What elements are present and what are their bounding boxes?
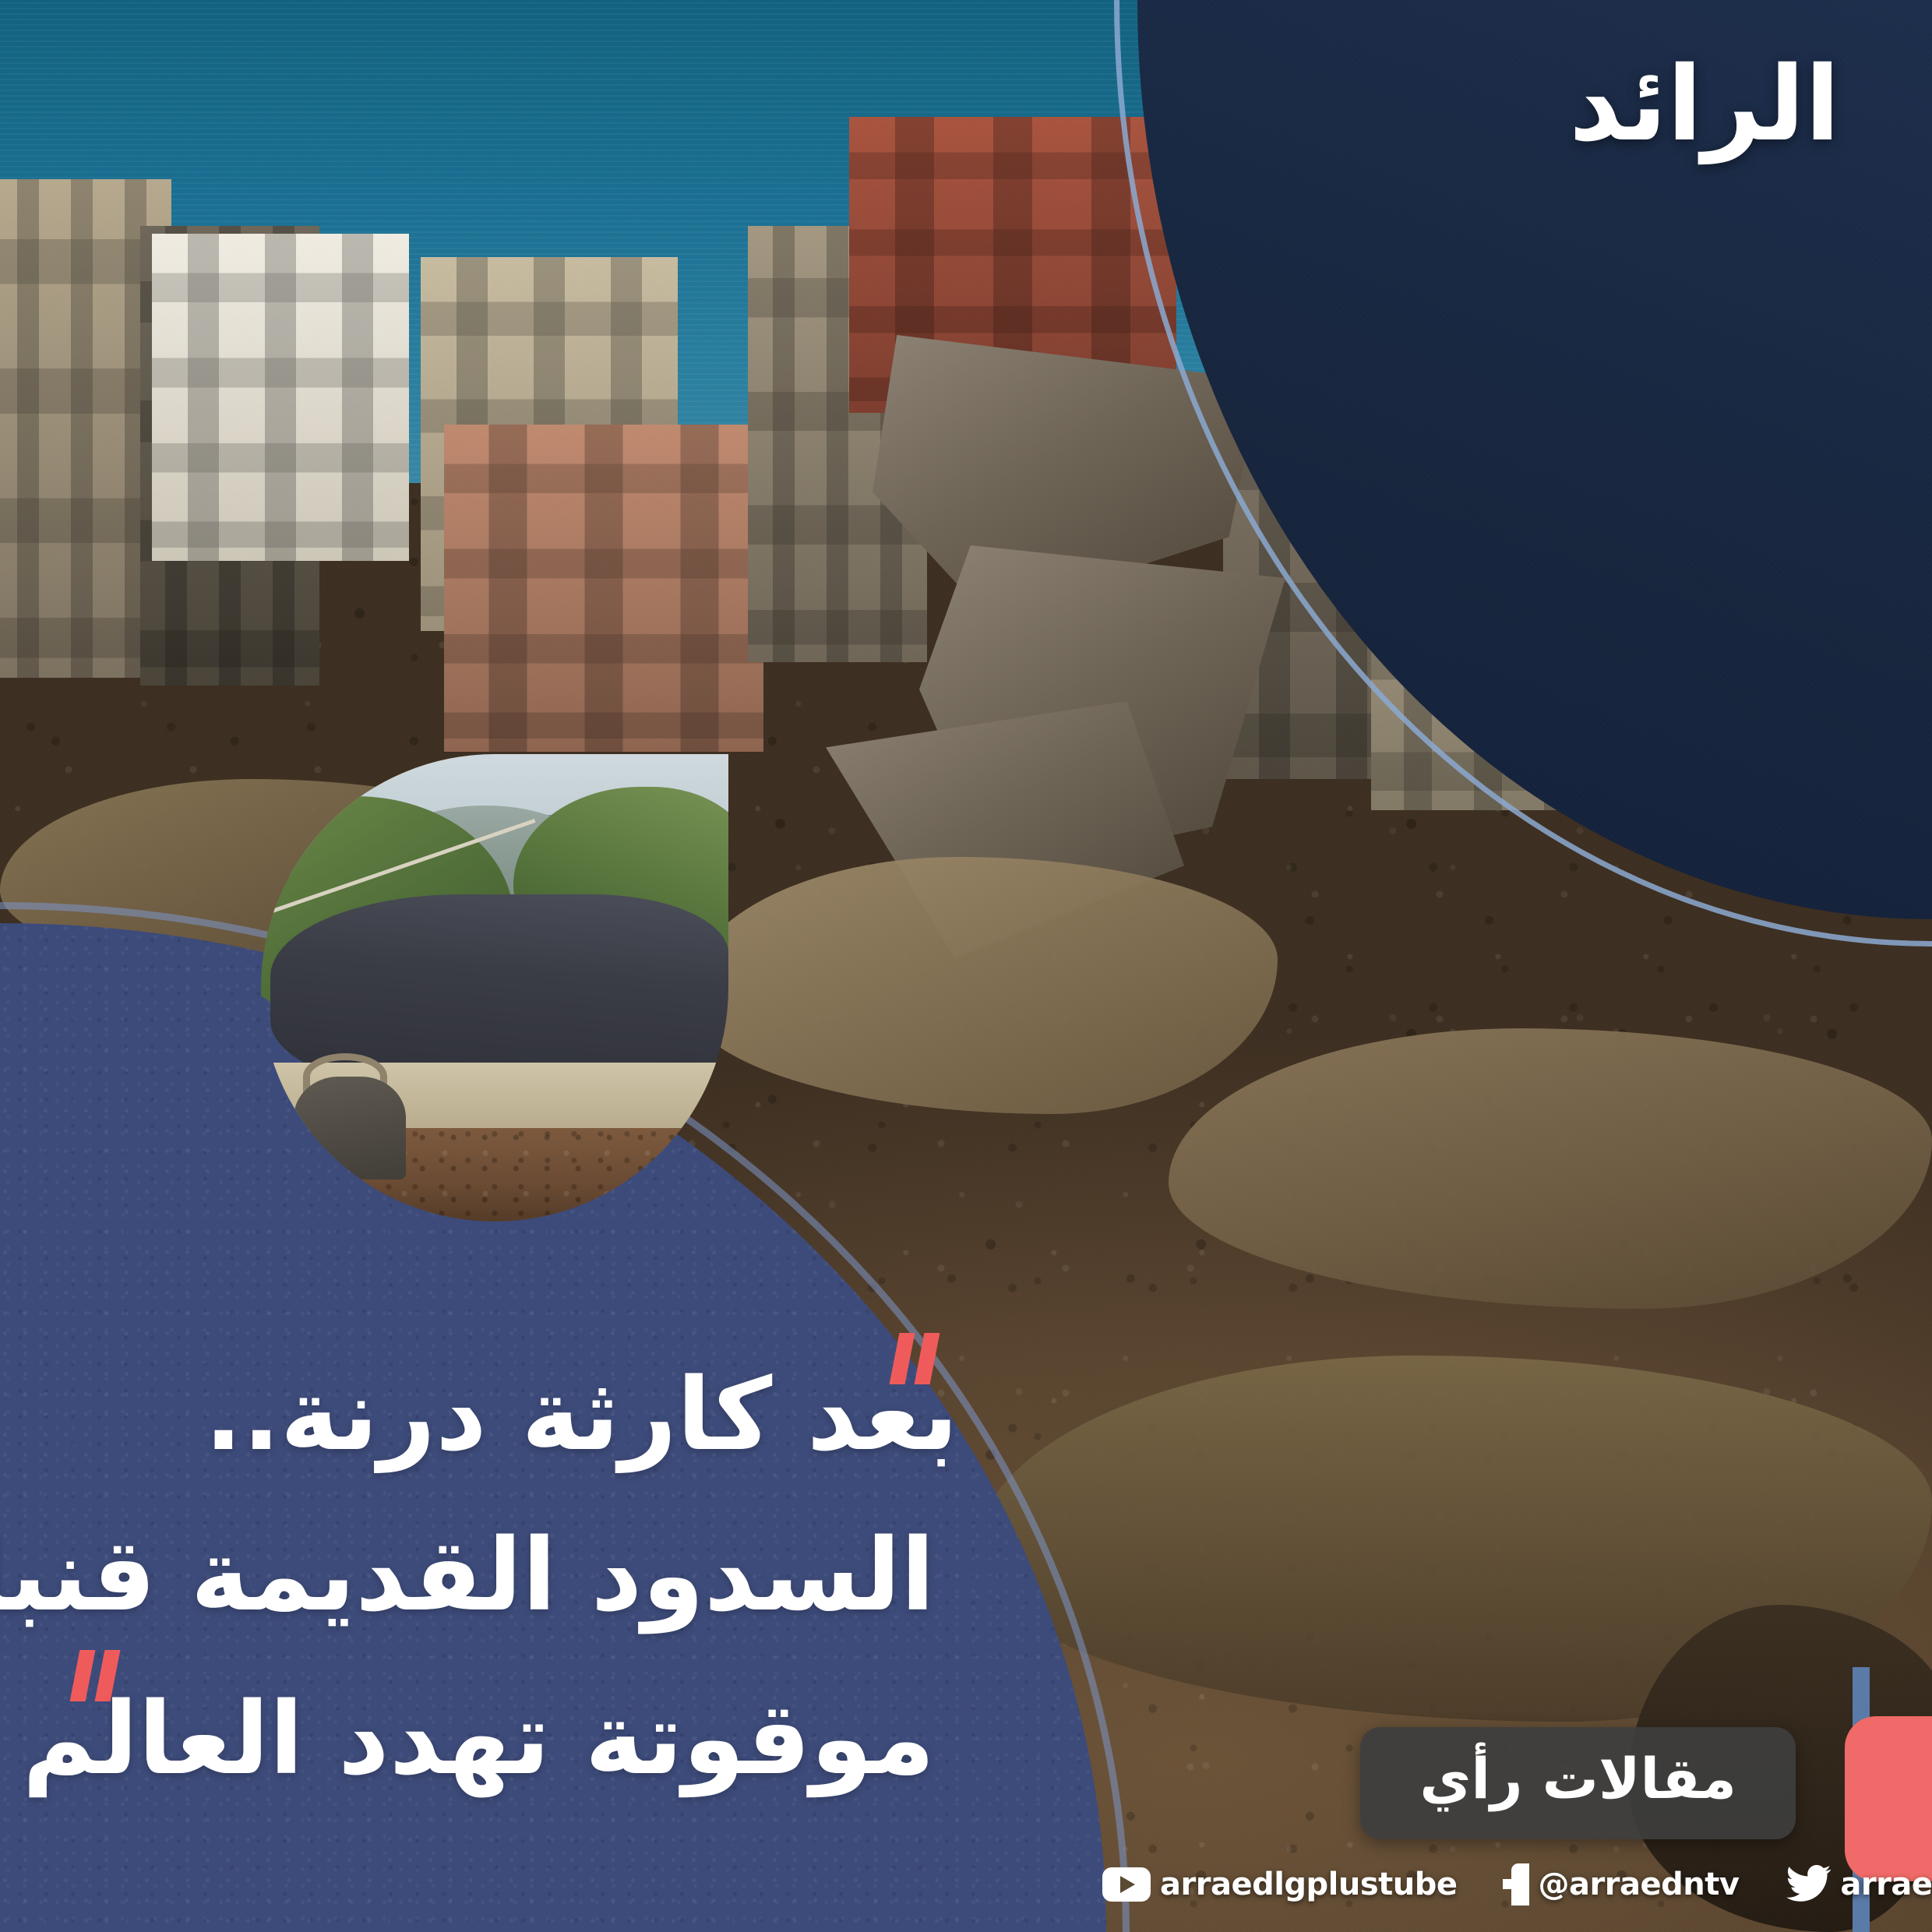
twitter-handle: arraedlgplus (1840, 1867, 1932, 1902)
category-badge[interactable]: مقالات رأي (1360, 1727, 1796, 1839)
headline-line-2: السدود القديمة قنبلة (0, 1518, 935, 1634)
social-item-facebook[interactable]: @arraedntv (1503, 1863, 1740, 1906)
dam-spillway (294, 1077, 406, 1179)
headline-line-3: موقوتة تهدد العالم (23, 1681, 935, 1797)
building-block (152, 234, 409, 561)
youtube-icon (1102, 1867, 1151, 1902)
social-bar: arraedlgplustube @arraedntv arraedlgplus… (1102, 1863, 1932, 1906)
twitter-icon (1784, 1865, 1831, 1904)
youtube-handle: arraedlgplustube (1160, 1867, 1458, 1902)
social-item-youtube[interactable]: arraedlgplustube (1102, 1867, 1458, 1902)
social-item-twitter[interactable]: arraedlgplus (1784, 1865, 1932, 1904)
dam-inset-image[interactable] (261, 754, 728, 1222)
building-block (444, 425, 763, 752)
facebook-icon (1503, 1863, 1529, 1906)
social-media-card: الرائد بعد كارثة درنة.. السدود القديمة ق… (0, 0, 1932, 1932)
facebook-handle: @arraedntv (1539, 1867, 1740, 1902)
accent-red-bar (1845, 1716, 1932, 1881)
brand-logo[interactable]: الرائد (1569, 53, 1840, 156)
headline-line-1: بعد كارثة درنة.. (204, 1357, 958, 1473)
